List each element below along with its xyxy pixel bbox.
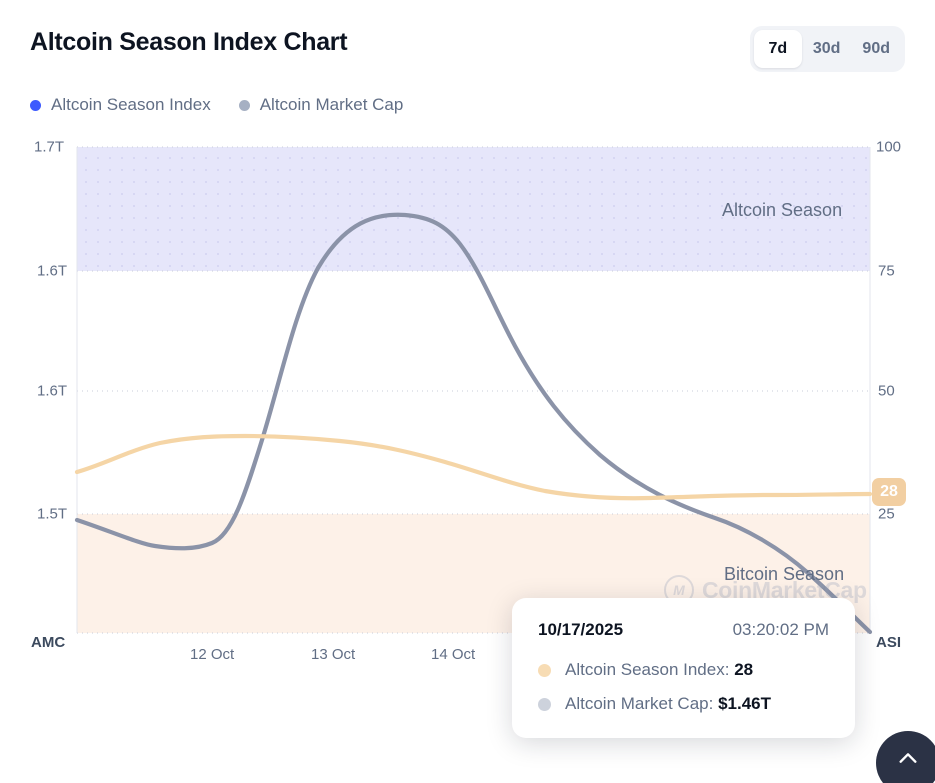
chevron-up-icon [897, 747, 919, 769]
left-axis-tick: 1.6T [37, 383, 67, 400]
tooltip-row-value: $1.46T [718, 694, 771, 713]
left-axis-tick: 1.6T [37, 263, 67, 280]
tooltip-time: 03:20:02 PM [733, 620, 829, 640]
bitcoin-season-zone-label: Bitcoin Season [724, 564, 844, 585]
tooltip-series-dot-icon [538, 664, 551, 677]
tooltip-row-altcoin-market-cap: Altcoin Market Cap: $1.46T [538, 694, 829, 714]
tooltip-row-text: Altcoin Season Index: 28 [565, 660, 753, 680]
left-axis-tick: 1.5T [37, 506, 67, 523]
tooltip-date: 10/17/2025 [538, 620, 623, 640]
current-value-badge: 28 [872, 478, 906, 506]
x-axis-tick: 14 Oct [431, 646, 475, 663]
tooltip-series-dot-icon [538, 698, 551, 711]
x-axis-tick: 12 Oct [190, 646, 234, 663]
altcoin-season-index-line [77, 436, 870, 498]
tooltip-row-value: 28 [734, 660, 753, 679]
chart-tooltip: 10/17/2025 03:20:02 PM Altcoin Season In… [512, 598, 855, 738]
right-axis-tick: 100 [876, 139, 901, 156]
left-axis-tick: 1.7T [34, 139, 64, 156]
right-axis-name: ASI [876, 634, 901, 651]
tooltip-row-label: Altcoin Market Cap: [565, 694, 713, 713]
tooltip-row-label: Altcoin Season Index: [565, 660, 729, 679]
x-axis-tick: 13 Oct [311, 646, 355, 663]
tooltip-row-text: Altcoin Market Cap: $1.46T [565, 694, 771, 714]
tooltip-row-altcoin-season-index: Altcoin Season Index: 28 [538, 660, 829, 680]
chart-card: Altcoin Season Index Chart 7d 30d 90d Al… [0, 0, 935, 783]
altcoin-season-zone-label: Altcoin Season [722, 200, 842, 221]
right-axis-tick: 75 [878, 263, 895, 280]
tooltip-header: 10/17/2025 03:20:02 PM [538, 620, 829, 640]
right-axis-tick: 50 [878, 383, 895, 400]
altcoin-season-index-chart-page: Altcoin Season Index Chart 7d 30d 90d Al… [0, 0, 935, 783]
right-axis-tick: 25 [878, 506, 895, 523]
left-axis-name: AMC [31, 634, 65, 651]
